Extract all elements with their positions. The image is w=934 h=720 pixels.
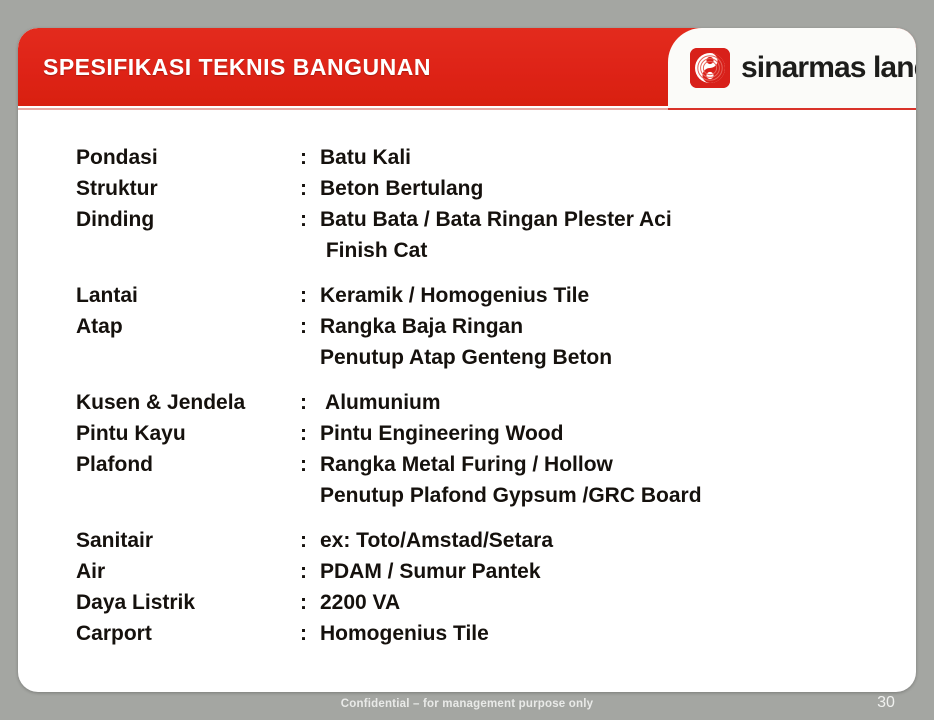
spec-row: Dinding:Batu Bata / Bata Ringan Plester … <box>18 208 916 239</box>
spec-row: Air:PDAM / Sumur Pantek <box>18 560 916 591</box>
spec-value: Penutup Plafond Gypsum /GRC Board <box>320 484 916 508</box>
spec-value: Homogenius Tile <box>320 622 916 646</box>
spec-value: Batu Bata / Bata Ringan Plester Aci <box>320 208 916 232</box>
spec-row: Sanitair:ex: Toto/Amstad/Setara <box>18 529 916 560</box>
spec-row: Lantai:Keramik / Homogenius Tile <box>18 284 916 315</box>
spec-row: Pintu Kayu:Pintu Engineering Wood <box>18 422 916 453</box>
page-number: 30 <box>866 694 906 712</box>
spec-value: Beton Bertulang <box>320 177 916 201</box>
spec-value: Rangka Baja Ringan <box>320 315 916 339</box>
spec-label: Atap <box>18 315 300 339</box>
spec-separator: : <box>300 453 320 477</box>
spec-value: Keramik / Homogenius Tile <box>320 284 916 308</box>
spec-separator: : <box>300 422 320 446</box>
sinarmas-swirl-icon <box>690 48 730 88</box>
spec-row: Atap:Rangka Baja Ringan <box>18 315 916 346</box>
spec-label: Carport <box>18 622 300 646</box>
spec-label: Lantai <box>18 284 300 308</box>
spec-separator: : <box>300 591 320 615</box>
spec-value: ex: Toto/Amstad/Setara <box>320 529 916 553</box>
brand-wordmark: sinarmas land <box>741 53 916 83</box>
spec-label: Daya Listrik <box>18 591 300 615</box>
spec-row: Penutup Atap Genteng Beton <box>18 346 916 377</box>
spec-value: Penutup Atap Genteng Beton <box>320 346 916 370</box>
spec-separator: : <box>300 208 320 232</box>
spec-row: Penutup Plafond Gypsum /GRC Board <box>18 484 916 515</box>
spec-separator: : <box>300 622 320 646</box>
spec-separator: : <box>300 315 320 339</box>
spec-row: Pondasi:Batu Kali <box>18 146 916 177</box>
spec-separator: : <box>300 560 320 584</box>
spec-label: Sanitair <box>18 529 300 553</box>
spec-row: Finish Cat <box>18 239 916 270</box>
spec-label: Plafond <box>18 453 300 477</box>
spec-row: Struktur:Beton Bertulang <box>18 177 916 208</box>
spec-label: Pondasi <box>18 146 300 170</box>
spec-separator: : <box>300 146 320 170</box>
spec-value: Batu Kali <box>320 146 916 170</box>
brand-logo: sinarmas land <box>668 28 916 108</box>
spec-value: Finish Cat <box>320 239 916 263</box>
spec-label: Pintu Kayu <box>18 422 300 446</box>
spec-value: Pintu Engineering Wood <box>320 422 916 446</box>
spec-separator: : <box>300 391 320 415</box>
spec-label: Air <box>18 560 300 584</box>
page-title: SPESIFIKASI TEKNIS BANGUNAN <box>43 54 431 81</box>
spec-label: Dinding <box>18 208 300 232</box>
header-divider-right <box>668 108 916 110</box>
spec-row: Kusen & Jendela: Alumunium <box>18 391 916 422</box>
spec-separator: : <box>300 284 320 308</box>
spec-row: Plafond:Rangka Metal Furing / Hollow <box>18 453 916 484</box>
confidentiality-note: Confidential – for management purpose on… <box>0 698 934 710</box>
spec-label: Kusen & Jendela <box>18 391 300 415</box>
specification-list: Pondasi:Batu KaliStruktur:Beton Bertulan… <box>18 146 916 653</box>
spec-separator: : <box>300 177 320 201</box>
spec-separator: : <box>300 529 320 553</box>
spec-value: 2200 VA <box>320 591 916 615</box>
spec-value: Alumunium <box>320 391 916 415</box>
slide-card: SPESIFIKASI TEKNIS BANGUNAN sinarmas lan… <box>18 28 916 692</box>
spec-label: Struktur <box>18 177 300 201</box>
spec-row: Carport:Homogenius Tile <box>18 622 916 653</box>
spec-value: Rangka Metal Furing / Hollow <box>320 453 916 477</box>
spec-value: PDAM / Sumur Pantek <box>320 560 916 584</box>
spec-row: Daya Listrik:2200 VA <box>18 591 916 622</box>
